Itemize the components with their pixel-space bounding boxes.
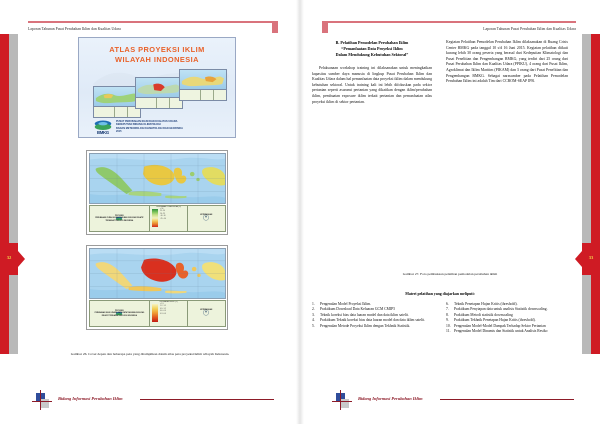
right-page: Laporan Tahunan Pusat Perubahan Iklim da…: [300, 0, 600, 424]
margin-band-shadow-left: [9, 34, 18, 354]
map-panel-title: PROYEKSI PERUBAHAN SUHU UDARA RATA-RATA …: [92, 310, 148, 317]
footer-bar-vertical: [40, 390, 41, 410]
list-item: Teknik Penetapan Hujan Kritis (threshold…: [446, 302, 568, 307]
map-figure-rainfall: PROYEKSI PERUBAHAN CURAH HUJAN TAHUNAN 2…: [86, 150, 228, 235]
map-legend-panel-temperature: PROYEKSI PERUBAHAN SUHU UDARA RATA-RATA …: [89, 300, 226, 327]
paragraph-right-column: Kegiatan Pelatihan Pemodelan Perubahan I…: [446, 40, 568, 85]
footer-rule-right: [440, 399, 574, 400]
section-heading: B. Pelatihan Pemodelan Perubahan Iklim “…: [312, 40, 432, 59]
legend-label-list: > 50 25 - 50 10 - 25 -10 - 10 -25 - -10: [160, 206, 187, 231]
map-info-text: KETERANGAN: [190, 214, 222, 216]
legend-info-cell: KETERANGAN: [188, 301, 224, 326]
atlas-minimap-3: [179, 69, 227, 101]
header-block-right: [322, 21, 328, 33]
margin-band-shadow-right: [582, 34, 591, 354]
header-rule-right: [324, 21, 576, 23]
page-number-right: 33: [582, 255, 600, 260]
section-heading-line-3: Dalam Mendukung Kebutuhan Sektoral”: [312, 52, 432, 58]
map-panel-title: PROYEKSI PERUBAHAN CURAH HUJAN TAHUNAN 2…: [92, 215, 148, 222]
header-block-left: [272, 21, 278, 33]
atlas-minimap-2: [135, 77, 183, 109]
bmkg-wordmark: BMKG: [93, 130, 113, 135]
materi-heading: Materi pelatihan yang diajarkan meliputi…: [312, 292, 568, 296]
legend-label-list: > 1.5 1.2 - 1.5 0.9 - 1.2 0.6 - 0.9 0.3 …: [160, 301, 187, 326]
footer-rule-left: [140, 399, 274, 400]
atlas-title-line2: WILAYAH INDONESIA: [79, 55, 235, 65]
running-header-left: Laporan Tahunan Pusat Perubahan Iklim da…: [28, 27, 121, 31]
legend-color-ramp: [152, 304, 158, 322]
footer-label-right: Bidang Informasi Perubahan Iklim: [358, 396, 423, 401]
legend-title-cell: PROYEKSI PERUBAHAN CURAH HUJAN TAHUNAN 2…: [90, 206, 151, 231]
bmkg-logo-icon: BMKG: [93, 118, 113, 135]
list-item: Praktikum Tekhnik Penetapan Hujan Kritis…: [446, 318, 568, 323]
legend-ramp-cell: PERUBAHAN SUHU (°C) > 1.5 1.2 - 1.5 0.9 …: [150, 301, 188, 326]
atlas-imprint-text: PUSAT PERUBAHAN IKLIM DAN KUALITAS UDARA…: [116, 120, 183, 133]
map-info-text: KETERANGAN: [190, 309, 222, 311]
list-item: Praktikum Download Data Keluaran GCM CMI…: [312, 307, 432, 312]
list-item: Praktikum Metodi statistik downscaling: [446, 313, 568, 318]
figure-caption-26: Gambar 26. Cover depan dan beberapa peta…: [30, 352, 270, 357]
footer-label-left: Bidang Informasi Perubahan Iklim: [58, 396, 123, 401]
page-tab-point: [18, 251, 25, 267]
book-spread: Laporan Tahunan Pusat Perubahan Iklim da…: [0, 0, 600, 424]
list-item: Pengenalan Model-Model Dampak Terhadap S…: [446, 324, 568, 329]
legend-ramp-cell: PERUBAHAN CURAH HUJAN (%) > 50 25 - 50 1…: [150, 206, 188, 231]
footer-bar-horizontal: [32, 401, 52, 402]
map-area-temperature: [89, 248, 226, 299]
panel-subtitle-text: PERUBAHAN CURAH HUJAN TAHUNAN 2020-2049 …: [95, 217, 143, 221]
atlas-title-line1: ATLAS PROYEKSI IKLIM: [79, 45, 235, 55]
materi-list-right: Teknik Penetapan Hujan Kritis (threshold…: [446, 302, 568, 335]
materi-list-left: Pengenalan Model Proyeksi Iklim. Praktik…: [312, 302, 432, 329]
minimap-map-area: [136, 78, 182, 97]
list-item: Teknik koreksi bias data luaran model da…: [312, 313, 432, 318]
page-number-tab-right: 33: [574, 243, 600, 275]
imprint-line-4: 2015: [116, 130, 183, 133]
page-number-left: 32: [0, 255, 18, 260]
header-rule-left: [28, 21, 276, 23]
footer-bar-horizontal: [332, 401, 352, 402]
atlas-minimap-1: [93, 86, 141, 118]
list-item: Pengenalan Model Proyeksi Iklim.: [312, 302, 432, 307]
left-page: Laporan Tahunan Pusat Perubahan Iklim da…: [0, 0, 300, 424]
paragraph-left-column: Pelaksanaan workshop training ini dilaks…: [312, 66, 432, 105]
legend-title: PERUBAHAN CURAH HUJAN (%): [150, 207, 187, 208]
map-area-rainfall: [89, 153, 226, 204]
atlas-title: ATLAS PROYEKSI IKLIM WILAYAH INDONESIA: [79, 45, 235, 64]
running-header-right: Laporan Tahunan Pusat Perubahan Iklim da…: [483, 27, 576, 31]
indonesia-map-icon: [90, 154, 225, 203]
indonesia-map-icon: [90, 249, 225, 298]
legend-label: -25 - -10: [160, 219, 187, 221]
figure-caption-27: Gambar 27. Foto pembukaan pelatihan pemo…: [330, 272, 570, 277]
minimap-legend: [136, 97, 182, 108]
minimap-map-area: [180, 70, 226, 89]
footer-bar-vertical: [340, 390, 341, 410]
footer-mark-left: [34, 392, 56, 414]
legend-title: PERUBAHAN SUHU (°C): [150, 302, 187, 303]
page-tab-point: [575, 251, 582, 267]
minimap-map-area: [94, 87, 140, 106]
footer-mark-right: [334, 392, 356, 414]
map-legend-panel-rainfall: PROYEKSI PERUBAHAN CURAH HUJAN TAHUNAN 2…: [89, 205, 226, 232]
map-figure-temperature: PROYEKSI PERUBAHAN SUHU UDARA RATA-RATA …: [86, 245, 228, 330]
legend-color-ramp: [152, 209, 158, 227]
atlas-imprint-block: BMKG PUSAT PERUBAHAN IKLIM DAN KUALITAS …: [93, 118, 183, 135]
minimap-legend: [180, 89, 226, 100]
panel-subtitle-text: PERUBAHAN SUHU UDARA RATA-RATA TAHUNAN 2…: [95, 312, 145, 316]
list-item: Pengenalan Metode Proyeksi Iklim dengan …: [312, 324, 432, 329]
list-item: Praktikum Penyiapan data untuk analisis …: [446, 307, 568, 312]
page-number-tab-left: 32: [0, 243, 26, 275]
legend-info-cell: KETERANGAN: [188, 206, 224, 231]
atlas-cover-figure: ATLAS PROYEKSI IKLIM WILAYAH INDONESIA: [78, 37, 236, 138]
list-item: Praktikum Teknik koreksi bias data luara…: [312, 318, 432, 323]
bmkg-mini-logo-icon: [116, 303, 123, 310]
list-item: Pengenalan Model Dinamis dan Statistik u…: [446, 329, 568, 334]
legend-label: 0.3 - 0.6: [160, 314, 187, 316]
margin-band-right: [591, 34, 600, 354]
bmkg-mini-logo-icon: [116, 208, 123, 215]
legend-title-cell: PROYEKSI PERUBAHAN SUHU UDARA RATA-RATA …: [90, 301, 151, 326]
margin-band-left: [0, 34, 9, 354]
minimap-legend: [94, 106, 140, 117]
imprint-line-3: BADAN METEOROLOGI KLIMATOLOGI DAN GEOFIS…: [116, 127, 183, 130]
